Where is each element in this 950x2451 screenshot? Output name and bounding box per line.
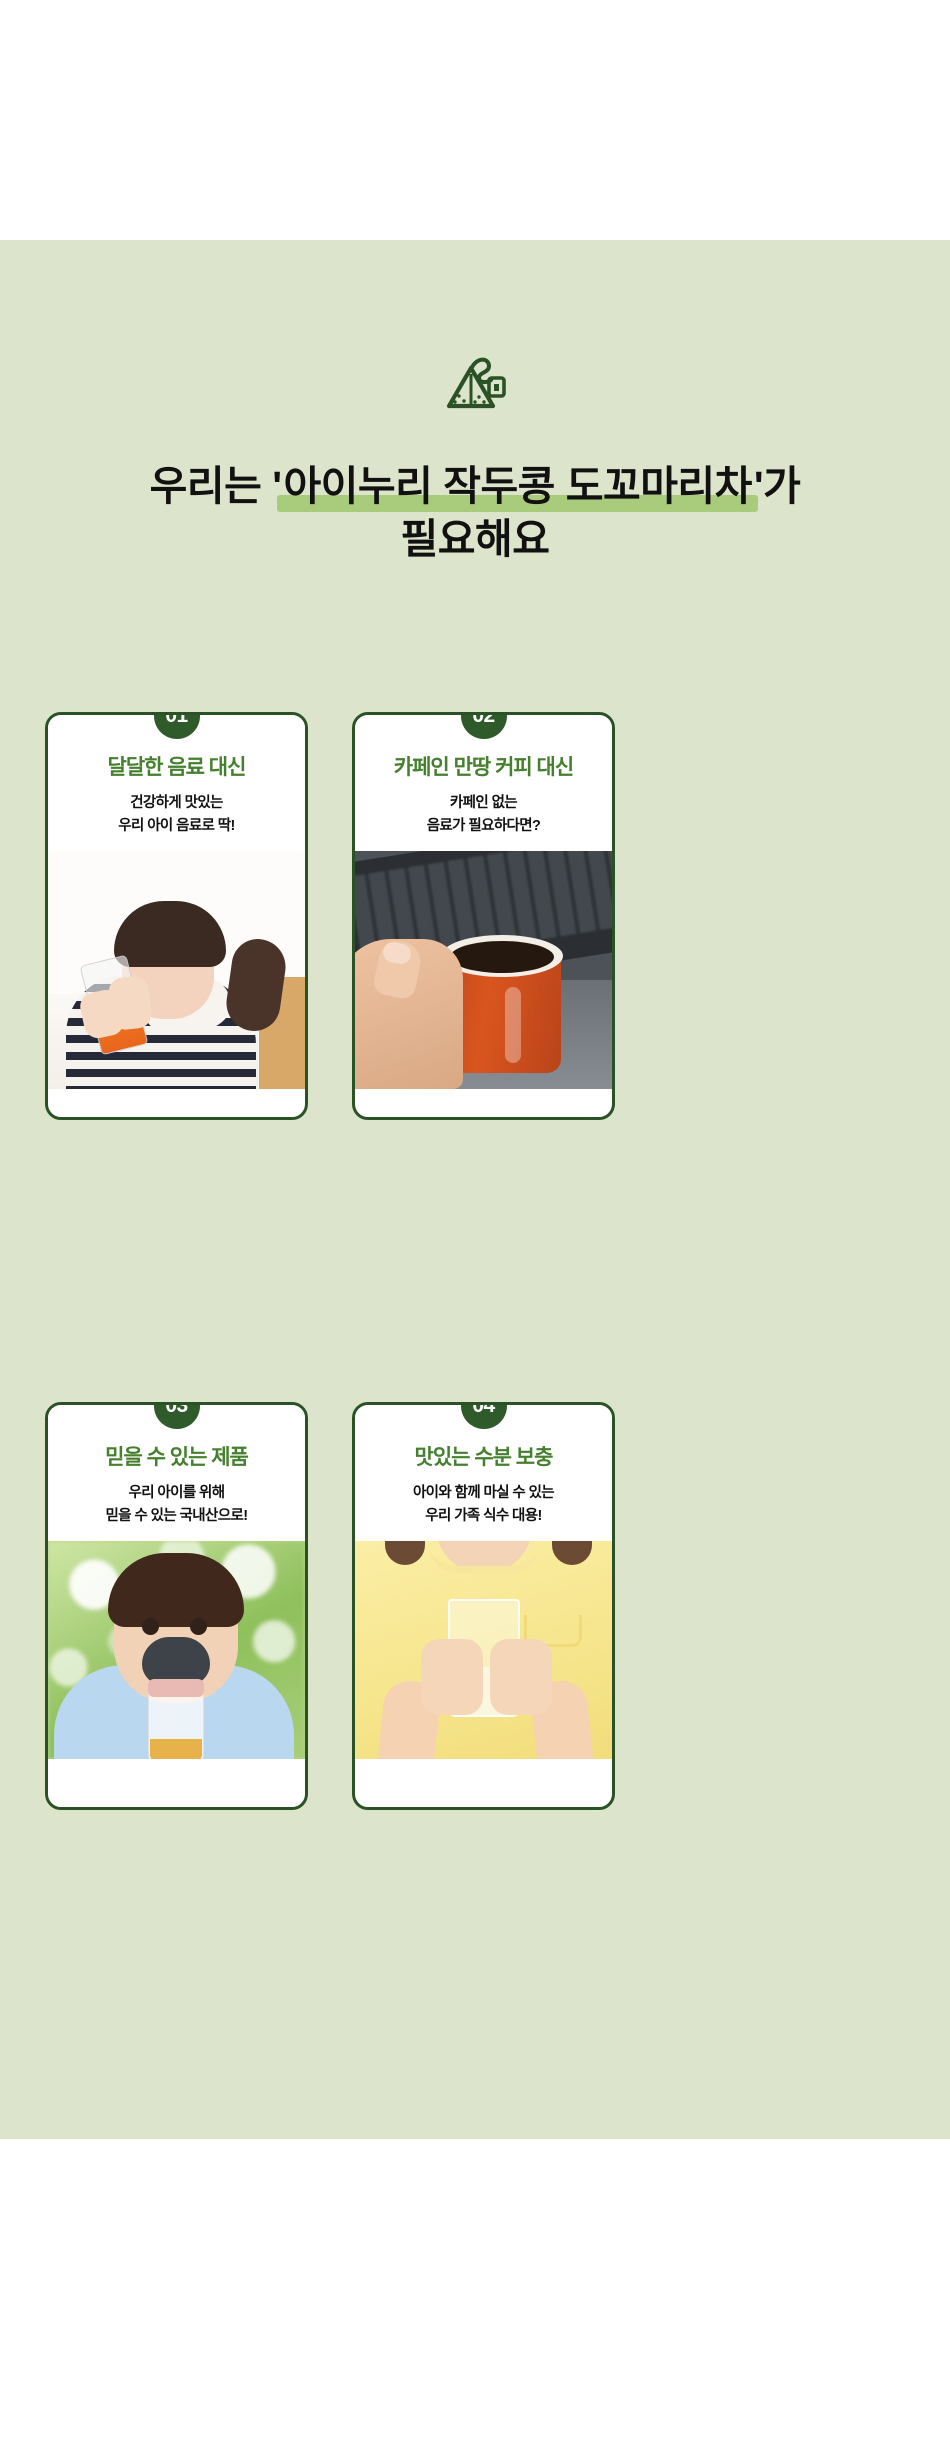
card-subtitle-line-1: 아이와 함께 마실 수 있는	[363, 1482, 604, 1504]
card-subtitle-line-1: 건강하게 맛있는	[56, 792, 297, 814]
benefit-cards-row-2: 03 믿을 수 있는 제품 우리 아이를 위해 믿을 수 있는 국내산으로!	[45, 1402, 905, 1810]
card-title: 달달한 음료 대신	[56, 755, 297, 781]
section-header: 우리는 '아이누리 작두콩 도꼬마리차'가 필요해요	[0, 350, 950, 567]
headline-prefix: 우리는 '	[150, 463, 282, 509]
card-subtitle-line-1: 우리 아이를 위해	[56, 1482, 297, 1504]
headline-highlight: 아이누리 작두콩 도꼬마리차	[281, 460, 753, 513]
benefit-card[interactable]: 01 달달한 음료 대신 건강하게 맛있는 우리 아이 음료로 딱!	[45, 712, 308, 1120]
page-title: 우리는 '아이누리 작두콩 도꼬마리차'가 필요해요	[150, 460, 801, 567]
benefit-card[interactable]: 03 믿을 수 있는 제품 우리 아이를 위해 믿을 수 있는 국내산으로!	[45, 1402, 308, 1810]
card-subtitle-line-2: 우리 아이 음료로 딱!	[56, 815, 297, 837]
girl-drinking-juice-photo	[48, 851, 305, 1089]
card-title: 맛있는 수분 보충	[363, 1445, 604, 1471]
card-subtitle-line-2: 믿을 수 있는 국내산으로!	[56, 1505, 297, 1527]
child-holding-water-glass-photo	[355, 1541, 612, 1759]
headline-line2: 필요해요	[150, 513, 801, 566]
hand-holding-coffee-mug-photo	[355, 851, 612, 1089]
teabag-icon	[441, 350, 509, 418]
card-subtitle: 아이와 함께 마실 수 있는 우리 가족 식수 대용!	[363, 1482, 604, 1527]
card-subtitle-line-2: 음료가 필요하다면?	[363, 815, 604, 837]
headline-suffix: '가	[754, 463, 800, 509]
card-title: 믿을 수 있는 제품	[56, 1445, 297, 1471]
card-title: 카페인 만땅 커피 대신	[363, 755, 604, 781]
card-subtitle: 건강하게 맛있는 우리 아이 음료로 딱!	[56, 792, 297, 837]
card-subtitle: 우리 아이를 위해 믿을 수 있는 국내산으로!	[56, 1482, 297, 1527]
benefit-card[interactable]: 04 맛있는 수분 보충 아이와 함께 마실 수 있는 우리 가족 식수 대용!	[352, 1402, 615, 1810]
benefit-card[interactable]: 02 카페인 만땅 커피 대신 카페인 없는 음료가 필요하다면?	[352, 712, 615, 1120]
card-subtitle-line-1: 카페인 없는	[363, 792, 604, 814]
toddler-drinking-bottle-photo	[48, 1541, 305, 1759]
landing-page: 우리는 '아이누리 작두콩 도꼬마리차'가 필요해요 01 달달한 음료 대신 …	[0, 0, 950, 2451]
benefit-cards-row-1: 01 달달한 음료 대신 건강하게 맛있는 우리 아이 음료로 딱!	[45, 712, 905, 1120]
card-subtitle: 카페인 없는 음료가 필요하다면?	[363, 792, 604, 837]
card-subtitle-line-2: 우리 가족 식수 대용!	[363, 1505, 604, 1527]
